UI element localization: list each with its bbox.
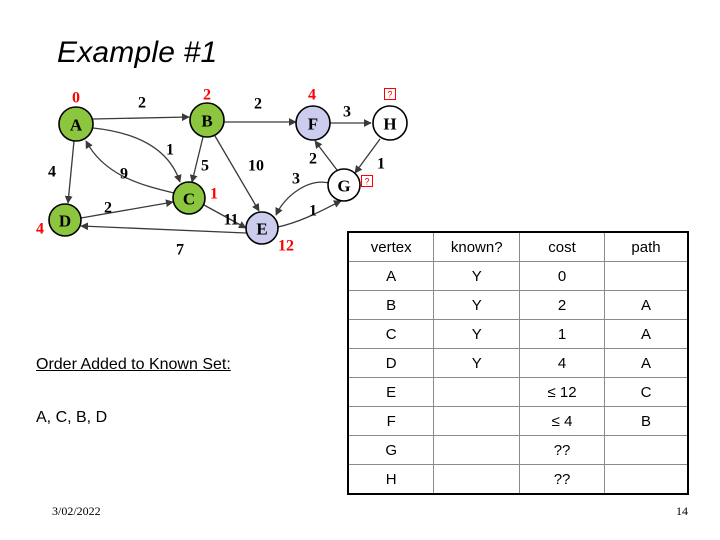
edge-weight-b-f: 2 <box>254 96 262 113</box>
table-row-f-cell-1 <box>434 407 520 436</box>
table-row-g-cell-3 <box>604 436 688 465</box>
table-row-d-cell-1: Y <box>434 349 520 378</box>
node-cost-a: 0 <box>72 90 80 107</box>
edge-weight-d-c: 2 <box>104 200 112 217</box>
order-added-heading: Order Added to Known Set: <box>36 356 231 374</box>
order-added-list: A, C, B, D <box>36 409 107 427</box>
node-cost-c: 1 <box>210 186 218 203</box>
edge-weight-c-e: 11 <box>223 212 238 229</box>
table-row-h-cell-0: H <box>348 465 434 495</box>
table-row-e-cell-3: C <box>604 378 688 407</box>
node-cost-f: 4 <box>308 87 316 104</box>
graph-node-h: H <box>373 106 407 140</box>
table-row-h-cell-1 <box>434 465 520 495</box>
table-row-g-cell-1 <box>434 436 520 465</box>
edge-weight-e-g: 1 <box>309 203 317 220</box>
node-label-e: E <box>256 220 267 239</box>
table-row-c-cell-3: A <box>604 320 688 349</box>
edge-weight-a-b: 2 <box>138 95 146 112</box>
edge-weight-h-g: 1 <box>377 156 385 173</box>
table-header-row-cell-0: vertex <box>348 232 434 262</box>
node-label-g: G <box>337 177 350 196</box>
table-header-row-cell-2: cost <box>520 232 605 262</box>
table-header-row-cell-1: known? <box>434 232 520 262</box>
graph-node-e: E <box>246 212 278 244</box>
table-row-e-cell-2: ≤ 12 <box>520 378 605 407</box>
node-label-c: C <box>183 190 195 209</box>
node-cost-b: 2 <box>203 87 211 104</box>
table-row-b-cell-0: B <box>348 291 434 320</box>
edge-weight-c-a: 9 <box>120 166 128 183</box>
table-row-b-cell-3: A <box>604 291 688 320</box>
table-row-h-cell-2: ?? <box>520 465 605 495</box>
graph-node-g: G <box>328 169 360 201</box>
table-row-a: AY0 <box>348 262 688 291</box>
edge-weight-a-d: 4 <box>48 164 56 181</box>
edge-weight-e-d: 7 <box>176 242 184 259</box>
edge-weight-g-e: 3 <box>292 171 300 188</box>
table-row-c: CY1A <box>348 320 688 349</box>
graph-node-f: F <box>296 106 330 140</box>
table-row-g: G?? <box>348 436 688 465</box>
graph-edge-g-e <box>276 182 329 215</box>
table-row-h-cell-3 <box>604 465 688 495</box>
table-row-e-cell-0: E <box>348 378 434 407</box>
node-cost-g: ? <box>364 177 369 187</box>
footer-date: 3/02/2022 <box>52 504 101 519</box>
table-row-a-cell-1: Y <box>434 262 520 291</box>
graph-edge-e-d <box>81 226 246 233</box>
table-row-d-cell-2: 4 <box>520 349 605 378</box>
table-row-e: E≤ 12C <box>348 378 688 407</box>
table-row-b-cell-2: 2 <box>520 291 605 320</box>
table-row-c-cell-1: Y <box>434 320 520 349</box>
table-row-f-cell-3: B <box>604 407 688 436</box>
table-row-f-cell-0: F <box>348 407 434 436</box>
table-row-c-cell-0: C <box>348 320 434 349</box>
graph-edge-d-c <box>81 202 173 218</box>
footer-page-number: 14 <box>676 504 688 519</box>
table-header-row-cell-3: path <box>604 232 688 262</box>
vertex-table: vertexknown?costpathAY0BY2ACY1ADY4AE≤ 12… <box>347 231 689 495</box>
node-cost-h: ? <box>387 90 392 100</box>
table-row-f-cell-2: ≤ 4 <box>520 407 605 436</box>
table-row-c-cell-2: 1 <box>520 320 605 349</box>
node-cost-e: 12 <box>278 238 294 255</box>
node-label-d: D <box>59 212 71 231</box>
table-header-row: vertexknown?costpath <box>348 232 688 262</box>
graph-edge-a-b <box>93 117 189 119</box>
graph-node-a: A <box>59 107 93 141</box>
table-row-b: BY2A <box>348 291 688 320</box>
graph-node-d: D <box>49 204 81 236</box>
table-row-a-cell-3 <box>604 262 688 291</box>
node-cost-d: 4 <box>36 221 44 238</box>
edge-weight-b-e: 10 <box>248 158 264 175</box>
edge-weight-g-f: 2 <box>309 151 317 168</box>
graph-node-c: C <box>173 182 205 214</box>
graph-edge-c-a <box>86 141 174 193</box>
node-label-a: A <box>70 116 83 135</box>
graph-node-b: B <box>190 103 224 137</box>
table-row-h: H?? <box>348 465 688 495</box>
table-row-d: DY4A <box>348 349 688 378</box>
graph-edge-a-d <box>68 141 74 203</box>
table-row-g-cell-0: G <box>348 436 434 465</box>
table-row-d-cell-0: D <box>348 349 434 378</box>
edge-weight-a-c: 1 <box>166 142 174 159</box>
node-label-h: H <box>383 115 396 134</box>
node-label-b: B <box>201 112 212 131</box>
table-row-e-cell-1 <box>434 378 520 407</box>
graph-edge-g-f <box>315 141 337 170</box>
table-row-g-cell-2: ?? <box>520 436 605 465</box>
edge-weight-b-c: 5 <box>201 158 209 175</box>
table-row-f: F≤ 4B <box>348 407 688 436</box>
table-row-a-cell-2: 0 <box>520 262 605 291</box>
table-row-d-cell-3: A <box>604 349 688 378</box>
edge-weight-f-h: 3 <box>343 104 351 121</box>
table-row-b-cell-1: Y <box>434 291 520 320</box>
node-label-f: F <box>308 115 318 134</box>
table-row-a-cell-0: A <box>348 262 434 291</box>
slide-canvas: Example #1 21495102211713231 ABCDEFGH 02… <box>0 0 720 540</box>
